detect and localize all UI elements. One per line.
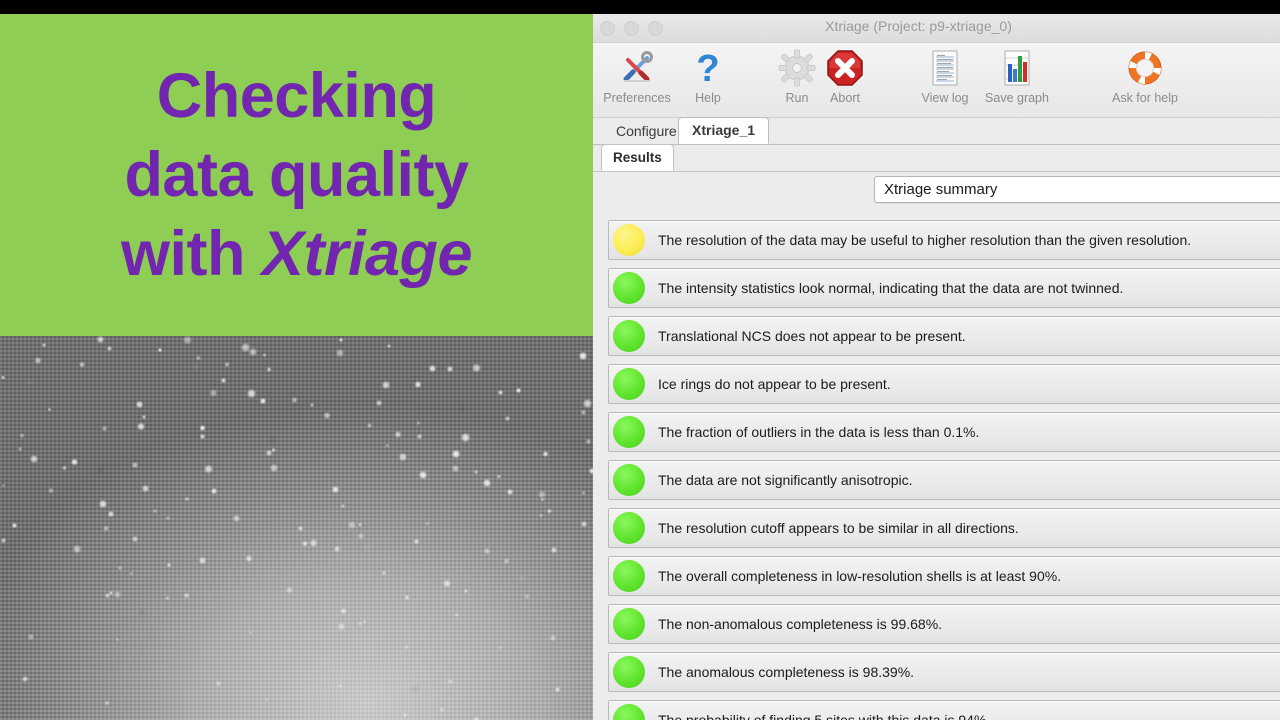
- status-indicator-green: [613, 464, 645, 496]
- status-indicator-green: [613, 608, 645, 640]
- help-label: Help: [695, 91, 721, 105]
- result-row[interactable]: The probability of finding 5 sites with …: [608, 700, 1280, 720]
- diffraction-spot: [233, 515, 240, 522]
- diffraction-spot: [310, 539, 317, 546]
- diffraction-spot: [334, 546, 340, 552]
- result-text: The data are not significantly anisotrop…: [658, 472, 912, 488]
- diffraction-spot: [336, 349, 344, 357]
- diffraction-spot: [246, 555, 253, 562]
- results-list[interactable]: The resolution of the data may be useful…: [593, 210, 1280, 720]
- diffraction-spot: [415, 381, 422, 388]
- diffraction-spot: [270, 464, 278, 472]
- window-titlebar: Xtriage (Project: p9-xtriage_0): [593, 14, 1280, 43]
- save-graph-label: Save graph: [985, 91, 1049, 105]
- diffraction-spot: [414, 539, 419, 544]
- diffraction-spot: [455, 613, 458, 616]
- diffraction-spot: [62, 466, 67, 471]
- svg-text:?: ?: [696, 48, 719, 88]
- result-row[interactable]: The anomalous completeness is 98.39%.: [608, 652, 1280, 692]
- diffraction-spot: [302, 541, 307, 546]
- result-text: The resolution of the data may be useful…: [658, 232, 1191, 248]
- diffraction-spot: [525, 594, 530, 599]
- diffraction-spot: [376, 400, 381, 405]
- view-log-button[interactable]: View log: [906, 47, 984, 105]
- diffraction-spot: [484, 548, 490, 554]
- diffraction-spot: [196, 356, 201, 361]
- diffraction-spot: [79, 362, 85, 368]
- diffraction-spot: [539, 514, 543, 518]
- diffraction-spot: [153, 509, 157, 513]
- x-ray-diffraction-image: [0, 336, 593, 720]
- status-indicator-green: [613, 704, 645, 720]
- result-row[interactable]: Ice rings do not appear to be present.: [608, 364, 1280, 404]
- diffraction-spot: [132, 462, 138, 468]
- diffraction-spot: [18, 447, 22, 451]
- diffraction-spot: [103, 526, 109, 532]
- diffraction-spot: [582, 491, 585, 494]
- diffraction-spot: [461, 433, 469, 441]
- diffraction-spot: [142, 415, 146, 419]
- life-ring-icon: [1125, 47, 1165, 89]
- question-mark-icon: ?: [691, 47, 725, 89]
- diffraction-spot: [387, 344, 391, 348]
- preferences-button[interactable]: Preferences: [598, 47, 676, 105]
- diffraction-spot: [102, 426, 107, 431]
- diffraction-spot: [265, 698, 268, 701]
- tools-icon: [617, 47, 657, 89]
- stop-x-icon: [825, 47, 865, 89]
- window-title: Xtriage (Project: p9-xtriage_0): [593, 18, 1280, 34]
- diffraction-spot: [260, 398, 266, 404]
- diffraction-spot: [99, 500, 107, 508]
- bar-chart-icon: [1001, 47, 1033, 89]
- help-button[interactable]: ? Help: [669, 47, 747, 105]
- diffraction-spot: [35, 357, 42, 364]
- diffraction-spot: [447, 366, 453, 372]
- result-text: The overall completeness in low-resoluti…: [658, 568, 1061, 584]
- tab-configure[interactable]: Configure: [603, 119, 690, 144]
- diffraction-spot: [498, 390, 503, 395]
- diffraction-spot: [292, 397, 297, 402]
- diffraction-noise: [0, 336, 593, 720]
- diffraction-spot: [249, 348, 257, 356]
- diffraction-spot: [266, 450, 272, 456]
- presentation-slide-panel: Checking data quality with Xtriage: [0, 14, 593, 720]
- result-row[interactable]: The resolution of the data may be useful…: [608, 220, 1280, 260]
- diffraction-spot: [71, 459, 78, 466]
- xtriage-summary-select[interactable]: Xtriage summary: [874, 176, 1280, 203]
- result-row[interactable]: The overall completeness in low-resoluti…: [608, 556, 1280, 596]
- document-icon: [929, 47, 961, 89]
- abort-label: Abort: [830, 91, 860, 105]
- diffraction-spot: [97, 336, 104, 343]
- result-row[interactable]: The fraction of outliers in the data is …: [608, 412, 1280, 452]
- diffraction-spot: [440, 707, 444, 711]
- diffraction-spot: [241, 343, 250, 352]
- diffraction-spot: [472, 364, 480, 372]
- diffraction-spot: [339, 684, 342, 687]
- diffraction-spot: [452, 450, 460, 458]
- status-indicator-green: [613, 560, 645, 592]
- result-text: Ice rings do not appear to be present.: [658, 376, 891, 392]
- diffraction-spot: [105, 701, 109, 705]
- diffraction-spot: [108, 511, 114, 517]
- status-indicator-green: [613, 656, 645, 688]
- diffraction-spot: [483, 479, 491, 487]
- diffraction-spot: [30, 455, 38, 463]
- diffraction-spot: [538, 491, 545, 498]
- result-row[interactable]: The non-anomalous completeness is 99.68%…: [608, 604, 1280, 644]
- diffraction-spot: [200, 425, 206, 431]
- diffraction-spot: [443, 580, 451, 588]
- diffraction-spot: [474, 470, 478, 474]
- xtriage-application-window: Xtriage (Project: p9-xtriage_0) Preferen…: [593, 14, 1280, 720]
- result-text: The fraction of outliers in the data is …: [658, 424, 979, 440]
- status-indicator-green: [613, 320, 645, 352]
- diffraction-spot: [504, 558, 509, 563]
- diffraction-spot: [73, 545, 81, 553]
- diffraction-spot: [382, 381, 389, 388]
- diffraction-spot: [183, 336, 192, 344]
- result-text: Translational NCS does not appear to be …: [658, 328, 966, 344]
- diffraction-spot: [551, 547, 557, 553]
- result-text: The resolution cutoff appears to be simi…: [658, 520, 1019, 536]
- diffraction-spot: [395, 431, 402, 438]
- result-row[interactable]: The intensity statistics look normal, in…: [608, 268, 1280, 308]
- diffraction-spot: [464, 589, 468, 593]
- diffraction-spot: [543, 451, 548, 456]
- status-indicator-green: [613, 416, 645, 448]
- slide-title-line-2: data quality: [124, 144, 468, 207]
- diffraction-spot: [28, 634, 33, 639]
- diffraction-spot: [419, 471, 427, 479]
- diffraction-spot: [348, 521, 356, 529]
- sub-tab-bar: Results: [593, 145, 1280, 172]
- diffraction-spot: [324, 412, 330, 418]
- diffraction-spot: [586, 439, 591, 444]
- diffraction-spot: [507, 489, 513, 495]
- diffraction-spot: [221, 378, 226, 383]
- diffraction-spot: [48, 488, 53, 493]
- diffraction-spot: [505, 416, 510, 421]
- diffraction-spot: [267, 367, 271, 371]
- diffraction-spot: [358, 622, 361, 625]
- status-indicator-green: [613, 512, 645, 544]
- diffraction-spot: [132, 536, 138, 542]
- result-text: The anomalous completeness is 98.39%.: [658, 664, 914, 680]
- diffraction-spot: [448, 679, 453, 684]
- result-text: The probability of finding 5 sites with …: [658, 712, 990, 720]
- status-indicator-yellow: [613, 224, 645, 256]
- subtab-results[interactable]: Results: [601, 144, 674, 171]
- diffraction-spot: [367, 423, 372, 428]
- ask-for-help-label: Ask for help: [1112, 91, 1178, 105]
- diffraction-spot: [22, 676, 28, 682]
- diffraction-spot: [211, 488, 218, 495]
- preferences-label: Preferences: [603, 91, 670, 105]
- slide-title-line-1: Checking: [157, 65, 437, 128]
- diffraction-spot: [210, 389, 217, 396]
- diffraction-spot: [332, 486, 340, 494]
- save-graph-button[interactable]: Save graph: [978, 47, 1056, 105]
- view-log-label: View log: [921, 91, 968, 105]
- result-row[interactable]: The data are not significantly anisotrop…: [608, 460, 1280, 500]
- diffraction-spot: [363, 620, 366, 623]
- diffraction-spot: [358, 533, 364, 539]
- diffraction-spot: [247, 389, 256, 398]
- summary-select-row: Xtriage summary: [593, 172, 1280, 206]
- result-row[interactable]: Translational NCS does not appear to be …: [608, 316, 1280, 356]
- abort-button[interactable]: Abort: [806, 47, 884, 105]
- diffraction-spot: [199, 557, 206, 564]
- diffraction-spot: [1, 376, 4, 379]
- diffraction-spot: [555, 687, 560, 692]
- diffraction-spot: [452, 465, 459, 472]
- diffraction-spot: [341, 608, 346, 613]
- diffraction-spot: [114, 591, 121, 598]
- diffraction-spot: [550, 635, 556, 641]
- diffraction-spot: [136, 401, 143, 408]
- result-text: The non-anomalous completeness is 99.68%…: [658, 616, 942, 632]
- result-row[interactable]: The resolution cutoff appears to be simi…: [608, 508, 1280, 548]
- status-indicator-green: [613, 272, 645, 304]
- diffraction-spot: [339, 338, 343, 342]
- diffraction-spot: [298, 526, 303, 531]
- diffraction-spot: [358, 523, 362, 527]
- diffraction-spot: [310, 403, 314, 407]
- diffraction-spot: [338, 623, 345, 630]
- diffraction-spot: [184, 593, 189, 598]
- slide-title-line-3: with Xtriage: [121, 223, 472, 286]
- diffraction-spot: [142, 485, 149, 492]
- result-text: The intensity statistics look normal, in…: [658, 280, 1123, 296]
- diffraction-spot: [516, 388, 521, 393]
- ask-for-help-button[interactable]: Ask for help: [1106, 47, 1184, 105]
- diffraction-spot: [341, 504, 345, 508]
- diffraction-spot: [204, 465, 212, 473]
- diffraction-spot: [499, 646, 502, 649]
- letterbox-top: [0, 0, 1280, 14]
- status-indicator-green: [613, 368, 645, 400]
- screen-root: Checking data quality with Xtriage Xtria…: [0, 0, 1280, 720]
- diffraction-spot: [579, 352, 587, 360]
- diffraction-spot: [20, 433, 24, 437]
- diffraction-spot: [166, 516, 170, 520]
- diffraction-spot: [137, 423, 145, 431]
- diffraction-spot: [583, 399, 592, 408]
- diffraction-spot: [417, 434, 422, 439]
- diffraction-spot: [399, 453, 407, 461]
- diffraction-spot: [185, 497, 189, 501]
- diffraction-spot: [581, 521, 587, 527]
- tab-bar: Configure Xtriage_1: [593, 118, 1280, 145]
- slide-title-line-3-prefix: with: [121, 219, 262, 289]
- diffraction-spot: [429, 365, 436, 372]
- slide-title-block: Checking data quality with Xtriage: [0, 14, 593, 336]
- slide-title-line-3-italic: Xtriage: [262, 219, 472, 289]
- tab-xtriage-1[interactable]: Xtriage_1: [678, 117, 769, 144]
- diffraction-spot: [286, 587, 293, 594]
- main-toolbar: Preferences ? Help: [593, 43, 1280, 118]
